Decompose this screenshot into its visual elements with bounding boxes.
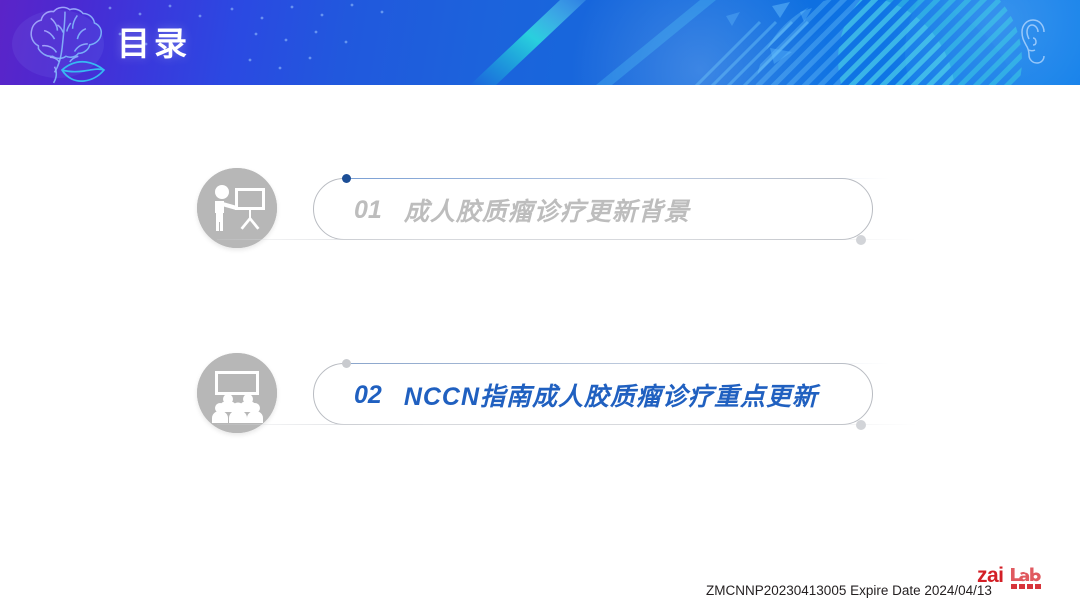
menu-item-01[interactable]: 01 成人胶质瘤诊疗更新背景	[197, 168, 897, 268]
svg-text:zai: zai	[977, 564, 1004, 587]
slide-catalog: 目录	[0, 0, 1080, 608]
menu-item-01-label: 成人胶质瘤诊疗更新背景	[404, 192, 690, 228]
catalog-menu: 01 成人胶质瘤诊疗更新背景	[0, 0, 1080, 608]
pill-top-dot-02	[342, 359, 351, 368]
menu-item-01-text: 01 成人胶质瘤诊疗更新背景	[354, 179, 690, 241]
audience-screen-icon	[197, 353, 277, 433]
menu-item-02-number: 02	[354, 381, 382, 410]
presenter-whiteboard-icon	[197, 168, 277, 248]
pill-bottom-line-02	[217, 424, 917, 425]
menu-pill-02[interactable]: 02 NCCN指南成人胶质瘤诊疗重点更新	[313, 363, 873, 425]
pill-bottom-line-01	[217, 239, 917, 240]
footer-approval-code: ZMCNNP20230413005 Expire Date 2024/04/13	[706, 583, 992, 598]
menu-item-02-label: NCCN指南成人胶质瘤诊疗重点更新	[404, 377, 818, 413]
menu-pill-01[interactable]: 01 成人胶质瘤诊疗更新背景	[313, 178, 873, 240]
menu-item-01-number: 01	[354, 196, 382, 225]
pill-bottom-dot-02	[856, 420, 866, 430]
menu-item-02-text: 02 NCCN指南成人胶质瘤诊疗重点更新	[354, 364, 818, 426]
pill-top-dot-01	[342, 174, 351, 183]
menu-item-02[interactable]: 02 NCCN指南成人胶质瘤诊疗重点更新	[197, 353, 897, 453]
pill-bottom-dot-01	[856, 235, 866, 245]
zailab-logo: zai	[977, 562, 1069, 594]
